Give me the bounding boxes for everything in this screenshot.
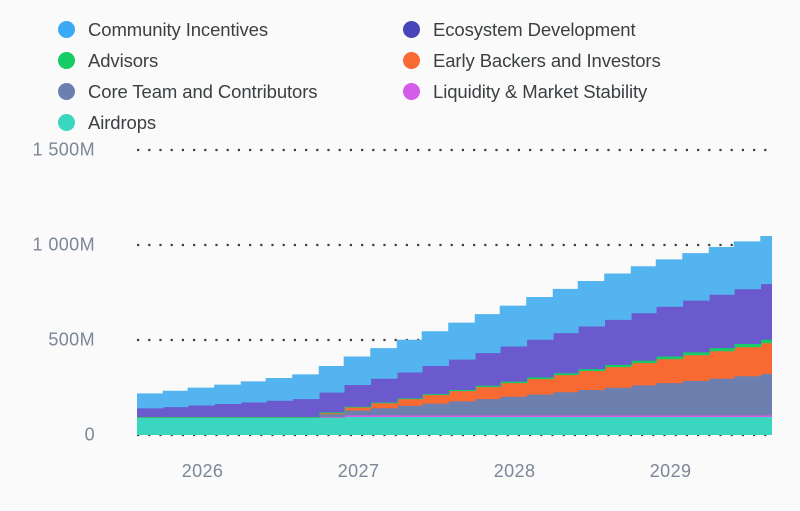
y-axis-tick-label: 1 500M [0,140,95,161]
x-axis-tick-label: 2029 [650,461,692,482]
chart-plot-svg [0,0,800,511]
y-axis-tick-label: 1 000M [0,235,95,256]
y-axis-tick-label: 0 [0,425,95,446]
x-axis-tick-label: 2026 [182,461,224,482]
x-axis-tick-label: 2028 [494,461,536,482]
stacked-area-chart: 0500M1 000M1 500M2026202720282029 [0,0,800,511]
area-series-airdrops [137,417,772,435]
y-axis-tick-label: 500M [0,330,95,351]
x-axis-tick-label: 2027 [338,461,380,482]
